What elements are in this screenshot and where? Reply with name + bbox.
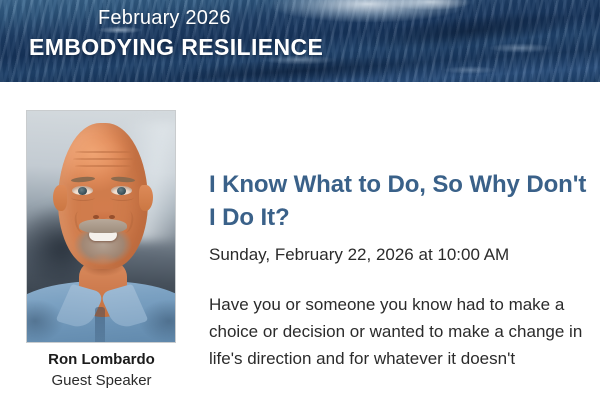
- chin-shading: [85, 251, 121, 269]
- event-datetime: Sunday, February 22, 2026 at 10:00 AM: [209, 243, 594, 267]
- banner-series-title: EMBODYING RESILIENCE: [29, 33, 323, 61]
- forehead-wrinkle: [73, 158, 133, 160]
- shirt-placket: [95, 307, 105, 342]
- ear-left: [53, 185, 67, 211]
- header-banner: February 2026 EMBODYING RESILIENCE: [0, 0, 600, 82]
- speaker-name: Ron Lombardo: [0, 350, 203, 370]
- speaker-portrait-image: [27, 111, 175, 342]
- under-eye-line-left: [71, 194, 95, 201]
- under-eye-line-right: [110, 194, 134, 201]
- speaker-role: Guest Speaker: [0, 371, 203, 391]
- banner-month-label: February 2026: [98, 5, 231, 31]
- speaker-photo: [26, 110, 176, 343]
- event-title: I Know What to Do, So Why Don't I Do It?: [209, 168, 589, 234]
- mustache: [79, 219, 127, 233]
- forehead-wrinkle: [75, 151, 131, 153]
- event-description: Have you or someone you know had to make…: [209, 291, 587, 372]
- forehead-wrinkle: [75, 165, 131, 167]
- newsletter-page: February 2026 EMBODYING RESILIENCE: [0, 0, 600, 400]
